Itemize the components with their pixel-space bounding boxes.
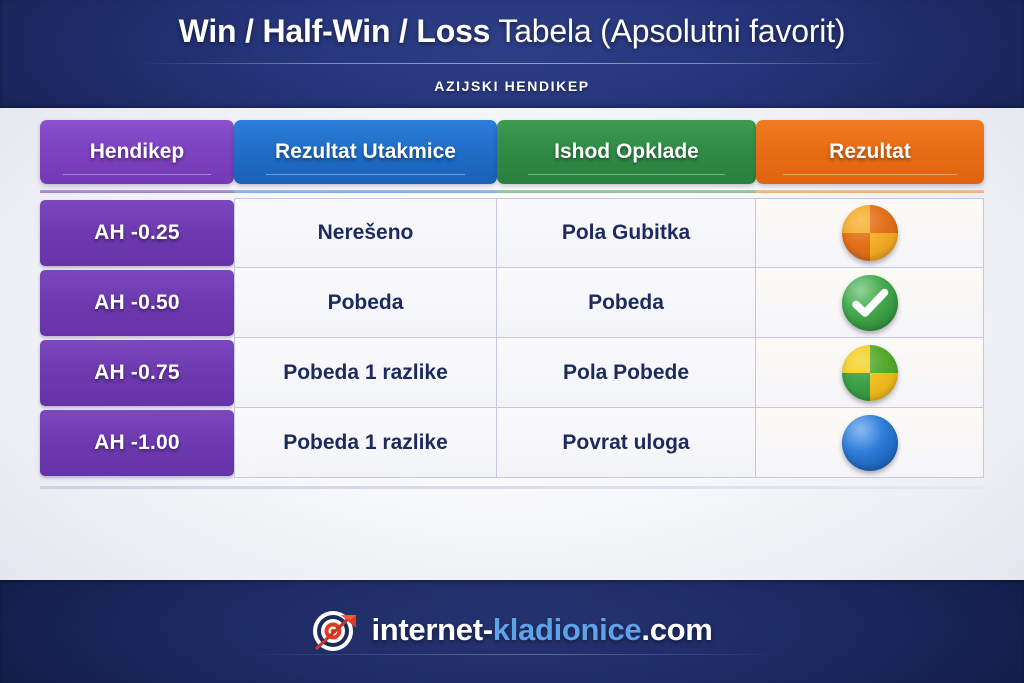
table-row: AH -0.50 Pobeda Pobeda <box>40 268 984 338</box>
table-header-row: Hendikep Rezultat Utakmice Ishod Opklade… <box>40 120 984 184</box>
header-divider <box>140 63 884 64</box>
column-header-match-result-label: Rezultat Utakmice <box>275 140 456 164</box>
table-row: AH -0.75 Pobeda 1 razlike Pola Pobede <box>40 338 984 408</box>
column-header-result: Rezultat <box>756 120 984 184</box>
cell-match-result: Nerešeno <box>234 198 497 268</box>
cell-handicap-label: AH -0.50 <box>94 291 180 315</box>
check-mark-icon <box>842 275 898 331</box>
cell-bet-outcome-label: Pola Pobede <box>563 361 689 385</box>
cell-handicap: AH -0.75 <box>40 340 234 406</box>
cell-bet-outcome-label: Pola Gubitka <box>562 221 690 245</box>
cell-handicap: AH -1.00 <box>40 410 234 476</box>
underline-handicap <box>40 190 234 193</box>
column-header-handicap: Hendikep <box>40 120 234 184</box>
half-win-green-yellow-quadrant-icon <box>842 345 898 401</box>
page-title-light: Tabela (Apsolutni favorit) <box>490 13 845 49</box>
underline-match-result <box>234 190 497 193</box>
cell-result <box>756 268 984 338</box>
brand-logo[interactable]: internet-kladionice.com <box>0 606 1024 654</box>
handicap-table: Hendikep Rezultat Utakmice Ishod Opklade… <box>40 120 984 184</box>
cell-match-result: Pobeda 1 razlike <box>234 338 497 408</box>
cell-match-result: Pobeda <box>234 268 497 338</box>
column-header-result-label: Rezultat <box>829 140 911 164</box>
brand-name-part-1: internet- <box>371 612 492 647</box>
cell-match-result-label: Pobeda 1 razlike <box>283 431 448 455</box>
table-body: AH -0.25 Nerešeno Pola Gubitka AH -0.50 <box>40 198 984 478</box>
brand-name: internet-kladionice.com <box>371 612 712 648</box>
cell-handicap-label: AH -0.75 <box>94 361 180 385</box>
underline-result <box>756 190 984 193</box>
footer-divider <box>238 654 786 655</box>
half-loss-orange-quadrant-icon <box>842 205 898 261</box>
column-header-match-result: Rezultat Utakmice <box>234 120 497 184</box>
cell-result <box>756 408 984 478</box>
cell-result <box>756 198 984 268</box>
table-row: AH -0.25 Nerešeno Pola Gubitka <box>40 198 984 268</box>
cell-match-result-label: Pobeda <box>328 291 404 315</box>
page-title-bold: Win / Half-Win / Loss <box>179 13 491 49</box>
table-row: AH -1.00 Pobeda 1 razlike Povrat uloga <box>40 408 984 478</box>
cell-match-result-label: Nerešeno <box>318 221 414 245</box>
cell-match-result: Pobeda 1 razlike <box>234 408 497 478</box>
cell-bet-outcome-label: Pobeda <box>588 291 664 315</box>
cell-result <box>756 338 984 408</box>
cell-match-result-label: Pobeda 1 razlike <box>283 361 448 385</box>
table-baseline <box>40 486 984 489</box>
win-green-check-icon <box>842 275 898 331</box>
table-header-underline <box>40 190 984 193</box>
brand-name-part-3: .com <box>641 612 712 647</box>
push-blue-circle-icon <box>842 415 898 471</box>
cell-handicap: AH -0.25 <box>40 200 234 266</box>
cell-bet-outcome: Povrat uloga <box>497 408 756 478</box>
footer-band: internet-kladionice.com <box>0 580 1024 683</box>
header-band: Win / Half-Win / Loss Tabela (Apsolutni … <box>0 0 1024 108</box>
underline-bet-outcome <box>497 190 756 193</box>
brand-name-part-2: kladionice <box>493 612 642 647</box>
cell-bet-outcome: Pola Gubitka <box>497 198 756 268</box>
dartboard-target-icon <box>311 606 359 654</box>
cell-bet-outcome: Pobeda <box>497 268 756 338</box>
cell-handicap-label: AH -1.00 <box>94 431 180 455</box>
cell-handicap: AH -0.50 <box>40 270 234 336</box>
cell-handicap-label: AH -0.25 <box>94 221 180 245</box>
page-subtitle: AZIJSKI HENDIKEP <box>0 78 1024 94</box>
page-title: Win / Half-Win / Loss Tabela (Apsolutni … <box>0 13 1024 50</box>
column-header-handicap-label: Hendikep <box>90 140 185 164</box>
cell-bet-outcome: Pola Pobede <box>497 338 756 408</box>
column-header-bet-outcome-label: Ishod Opklade <box>554 140 699 164</box>
slide-canvas: Win / Half-Win / Loss Tabela (Apsolutni … <box>0 0 1024 683</box>
column-header-bet-outcome: Ishod Opklade <box>497 120 756 184</box>
cell-bet-outcome-label: Povrat uloga <box>562 431 689 455</box>
